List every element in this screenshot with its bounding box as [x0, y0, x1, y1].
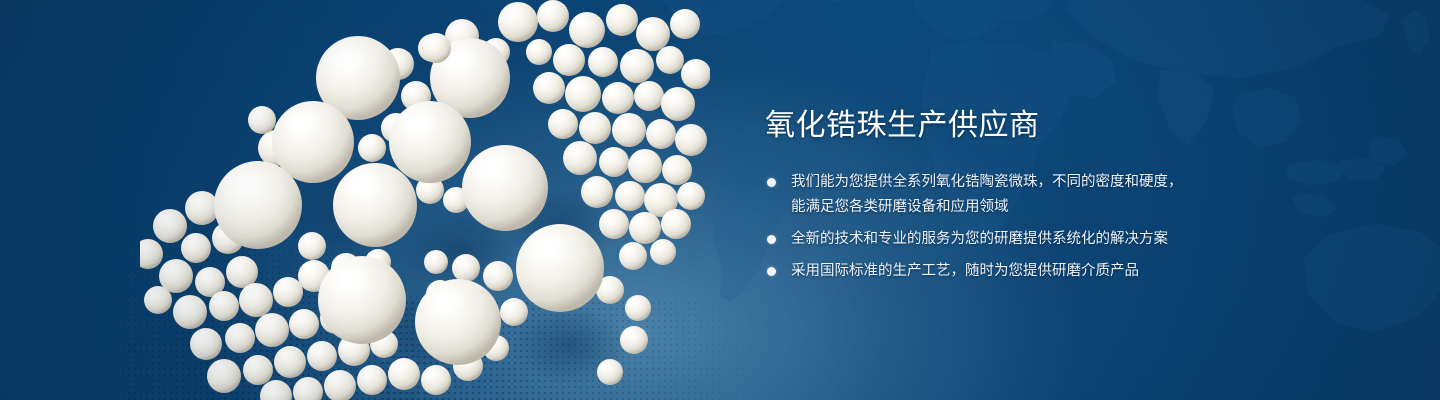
- hero-banner: 氧化锆珠生产供应商 我们能为您提供全系列氧化锆陶瓷微珠，不同的密度和硬度， 能满…: [0, 0, 1440, 400]
- banner-vignette: [0, 0, 1440, 400]
